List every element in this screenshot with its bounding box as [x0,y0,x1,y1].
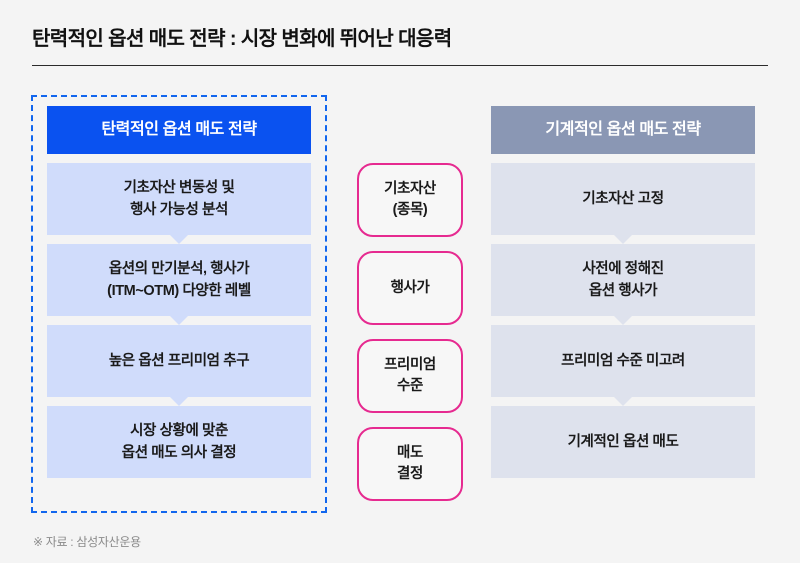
right-step-4-label: 기계적인 옵션 매도 [568,431,679,453]
right-step-2: 사전에 정해진옵션 행사가 [491,244,755,316]
left-step-3-label: 높은 옵션 프리미엄 추구 [109,350,249,372]
page-title: 탄력적인 옵션 매도 전략 : 시장 변화에 뛰어난 대응력 [32,24,768,54]
right-strategy-column: 기계적인 옵션 매도 전략 기초자산 고정 사전에 정해진옵션 행사가 프리미엄… [491,106,755,478]
right-step-1: 기초자산 고정 [491,163,755,235]
source-note: ※ 자료 : 삼성자산운용 [33,533,141,550]
criteria-pill-4: 매도결정 [357,427,463,501]
right-step-3: 프리미엄 수준 미고려 [491,325,755,397]
left-step-1-label: 기초자산 변동성 및행사 가능성 분석 [124,177,235,221]
comparison-diagram: 탄력적인 옵션 매도 전략 기초자산 변동성 및행사 가능성 분석 옵션의 만기… [0,92,800,512]
right-step-4: 기계적인 옵션 매도 [491,406,755,478]
down-arrow-icon [170,235,188,244]
criteria-pill-1: 기초자산(종목) [357,163,463,237]
criteria-pill-2: 행사가 [357,251,463,325]
title-block: 탄력적인 옵션 매도 전략 : 시장 변화에 뛰어난 대응력 [32,24,768,66]
right-step-3-label: 프리미엄 수준 미고려 [561,350,685,372]
left-column-header: 탄력적인 옵션 매도 전략 [47,106,311,154]
right-step-1-label: 기초자산 고정 [582,188,663,210]
criteria-column: 기초자산(종목) 행사가 프리미엄수준 매도결정 [357,163,463,501]
left-step-3: 높은 옵션 프리미엄 추구 [47,325,311,397]
right-step-2-label: 사전에 정해진옵션 행사가 [582,258,663,302]
down-arrow-icon [614,397,632,406]
left-step-4-label: 시장 상황에 맞춘옵션 매도 의사 결정 [122,420,236,464]
title-divider [32,65,768,66]
left-step-4: 시장 상황에 맞춘옵션 매도 의사 결정 [47,406,311,478]
down-arrow-icon [614,235,632,244]
down-arrow-icon [170,397,188,406]
down-arrow-icon [614,316,632,325]
criteria-pill-3: 프리미엄수준 [357,339,463,413]
left-step-2: 옵션의 만기분석, 행사가(ITM~OTM) 다양한 레벨 [47,244,311,316]
left-step-1: 기초자산 변동성 및행사 가능성 분석 [47,163,311,235]
down-arrow-icon [170,316,188,325]
left-strategy-column: 탄력적인 옵션 매도 전략 기초자산 변동성 및행사 가능성 분석 옵션의 만기… [47,106,311,478]
right-column-header: 기계적인 옵션 매도 전략 [491,106,755,154]
left-step-2-label: 옵션의 만기분석, 행사가(ITM~OTM) 다양한 레벨 [107,258,251,302]
